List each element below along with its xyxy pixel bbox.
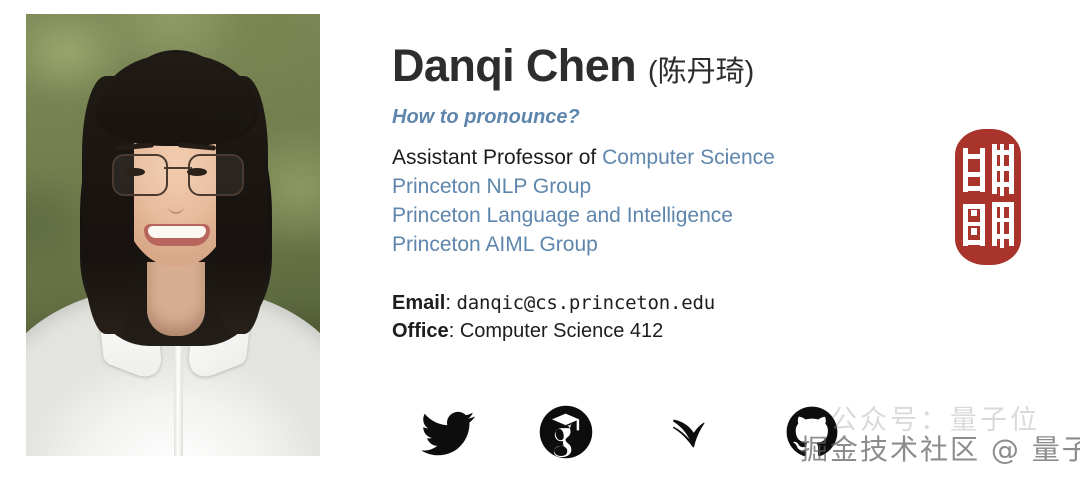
contact-block: Email: danqic@cs.princeton.edu Office: C… [392,289,952,345]
email-separator: : [445,292,456,314]
photo-nose [168,196,184,214]
google-scholar-icon[interactable] [538,404,594,460]
portrait-image [26,14,320,456]
name-chinese: (陈丹琦) [648,56,754,88]
affiliation-link-princeton-aiml[interactable]: Princeton AIML Group [392,230,952,259]
name-english: Danqi Chen [392,40,636,91]
seal-stamp-icon [954,128,1022,266]
github-icon[interactable] [784,404,840,460]
affiliation-link-princeton-language-intelligence[interactable]: Princeton Language and Intelligence [392,201,952,230]
affiliation-row-title: Assistant Professor of Computer Science [392,143,952,172]
office-label: Office [392,320,449,342]
semantic-scholar-icon[interactable] [658,404,714,460]
photo-neck [147,262,205,336]
how-to-pronounce-link[interactable]: How to pronounce? [392,105,952,129]
profile-photo [26,14,320,456]
page-title: Danqi Chen (陈丹琦) [392,0,952,89]
photo-eye-right [187,168,207,176]
office-separator: : [449,320,460,342]
affiliation-link-computer-science[interactable]: Computer Science [602,146,775,169]
social-links [420,404,900,470]
twitter-icon[interactable] [420,404,476,460]
contact-email-row: Email: danqic@cs.princeton.edu [392,289,952,317]
email-value[interactable]: danqic@cs.princeton.edu [456,292,715,314]
photo-shirt-placket [174,344,183,456]
email-label: Email [392,292,445,314]
affiliations-block: Assistant Professor of Computer Science … [392,143,952,259]
profile-details: Danqi Chen (陈丹琦) How to pronounce? Assis… [392,0,952,345]
office-value: Computer Science 412 [460,320,663,342]
profile-page: Danqi Chen (陈丹琦) How to pronounce? Assis… [0,0,1080,480]
photo-eye-left [125,168,145,176]
affiliation-link-princeton-nlp[interactable]: Princeton NLP Group [392,172,952,201]
photo-mouth [144,224,210,246]
photo-teeth [148,226,206,238]
title-prefix: Assistant Professor of [392,146,602,169]
contact-office-row: Office: Computer Science 412 [392,317,952,345]
